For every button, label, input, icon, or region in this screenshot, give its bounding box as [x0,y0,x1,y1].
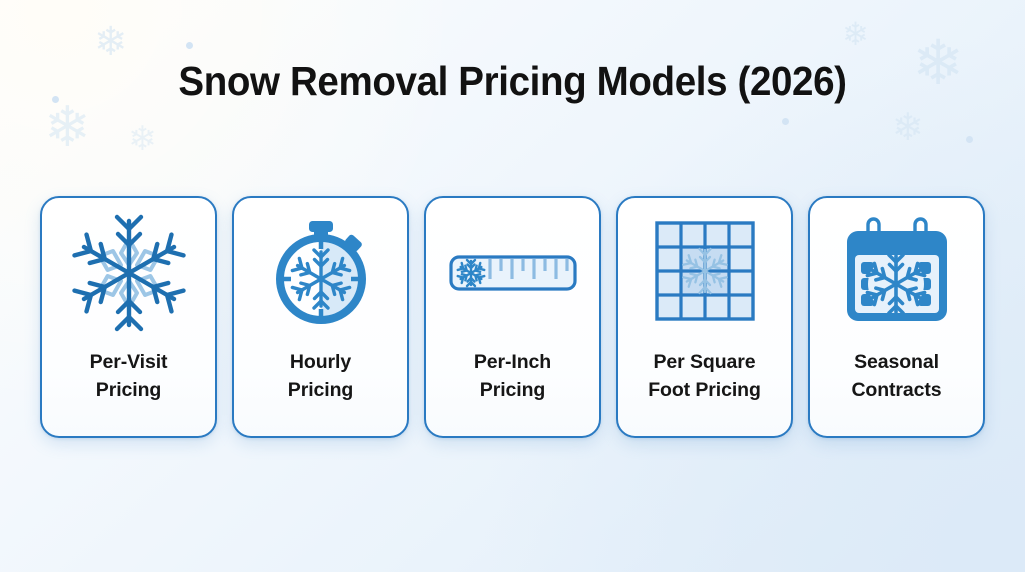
card-label: Hourly Pricing [234,348,407,404]
icon-container [426,198,599,348]
decorative-snowflake-icon: ❄ [94,22,128,62]
decorative-snowflake-icon: ❄ [128,122,157,156]
ruler-snowflake-icon [443,213,583,333]
card-label: Seasonal Contracts [810,348,983,404]
card-per-visit-pricing[interactable]: Per-Visit Pricing [40,196,217,438]
decorative-dot [782,118,789,125]
decorative-snowflake-icon: ❄ [44,100,91,156]
pricing-model-card-row: Per-Visit Pricing [40,196,985,438]
icon-container [42,198,215,348]
card-label: Per-Inch Pricing [426,348,599,404]
card-per-square-foot-pricing[interactable]: Per Square Foot Pricing [616,196,793,438]
icon-container [618,198,791,348]
snowflake-icon [69,213,189,333]
decorative-dot [186,42,193,49]
card-label: Per-Visit Pricing [42,348,215,404]
icon-container [234,198,407,348]
card-hourly-pricing[interactable]: Hourly Pricing [232,196,409,438]
stopwatch-snowflake-icon [261,213,381,333]
card-label: Per Square Foot Pricing [618,348,791,404]
decorative-dot [966,136,973,143]
infographic-canvas: ❄❄❄❄❄❄ Snow Removal Pricing Models (2026… [0,0,1025,572]
card-per-inch-pricing[interactable]: Per-Inch Pricing [424,196,601,438]
page-title: Snow Removal Pricing Models (2026) [31,58,995,105]
icon-container [810,198,983,348]
calendar-snowflake-icon [835,213,959,333]
grid-snowflake-icon [645,213,765,333]
decorative-snowflake-icon: ❄ [842,18,869,50]
decorative-snowflake-icon: ❄ [892,108,924,146]
card-seasonal-contracts[interactable]: Seasonal Contracts [808,196,985,438]
